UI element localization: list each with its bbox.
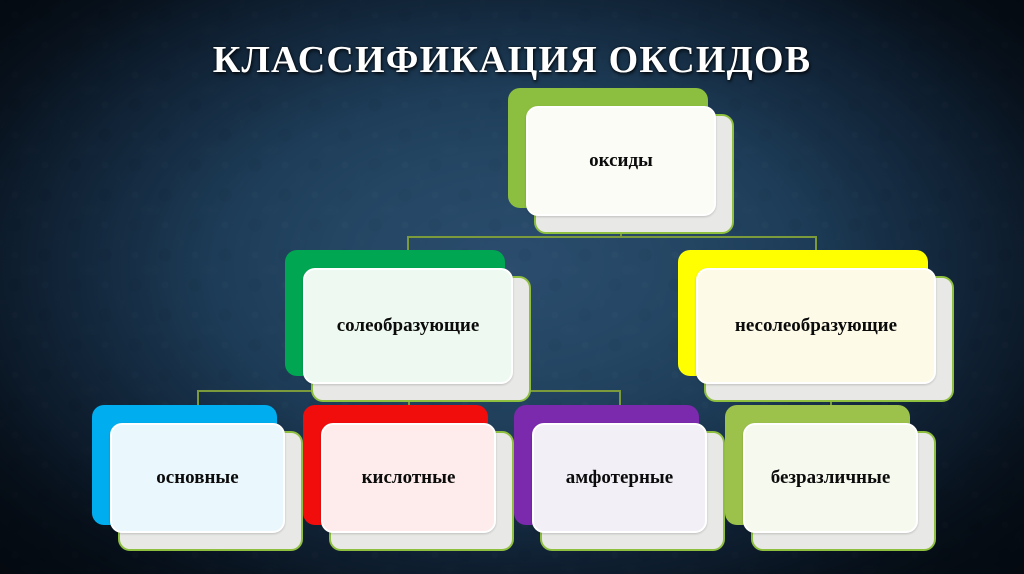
node-label: амфотерные [566,468,673,489]
connector-level1-bar [407,236,817,238]
node-front-card: основные [110,423,285,533]
node-front-card: оксиды [526,106,716,216]
diagram-node-basic[interactable]: основные [92,405,303,551]
node-front-card: несолеобразующие [696,268,936,384]
diagram-node-non-salt-forming[interactable]: несолеобразующие [678,250,954,402]
page-title: КЛАССИФИКАЦИЯ ОКСИДОВ [0,38,1024,82]
diagram-node-oxides[interactable]: оксиды [508,88,734,234]
node-front-card: солеобразующие [303,268,513,384]
diagram-node-salt-forming[interactable]: солеобразующие [285,250,531,402]
node-label: оксиды [589,151,653,172]
node-label: основные [156,468,238,489]
node-front-card: амфотерные [532,423,707,533]
node-label: безразличные [771,468,891,489]
node-label: солеобразующие [337,316,480,337]
node-label: несолеобразующие [735,316,897,337]
slide-canvas: КЛАССИФИКАЦИЯ ОКСИДОВ оксидысолеобразующ… [0,0,1024,574]
diagram-node-acidic[interactable]: кислотные [303,405,514,551]
diagram-node-indifferent[interactable]: безразличные [725,405,936,551]
node-front-card: кислотные [321,423,496,533]
node-front-card: безразличные [743,423,918,533]
node-label: кислотные [362,468,456,489]
diagram-node-amphoteric[interactable]: амфотерные [514,405,725,551]
